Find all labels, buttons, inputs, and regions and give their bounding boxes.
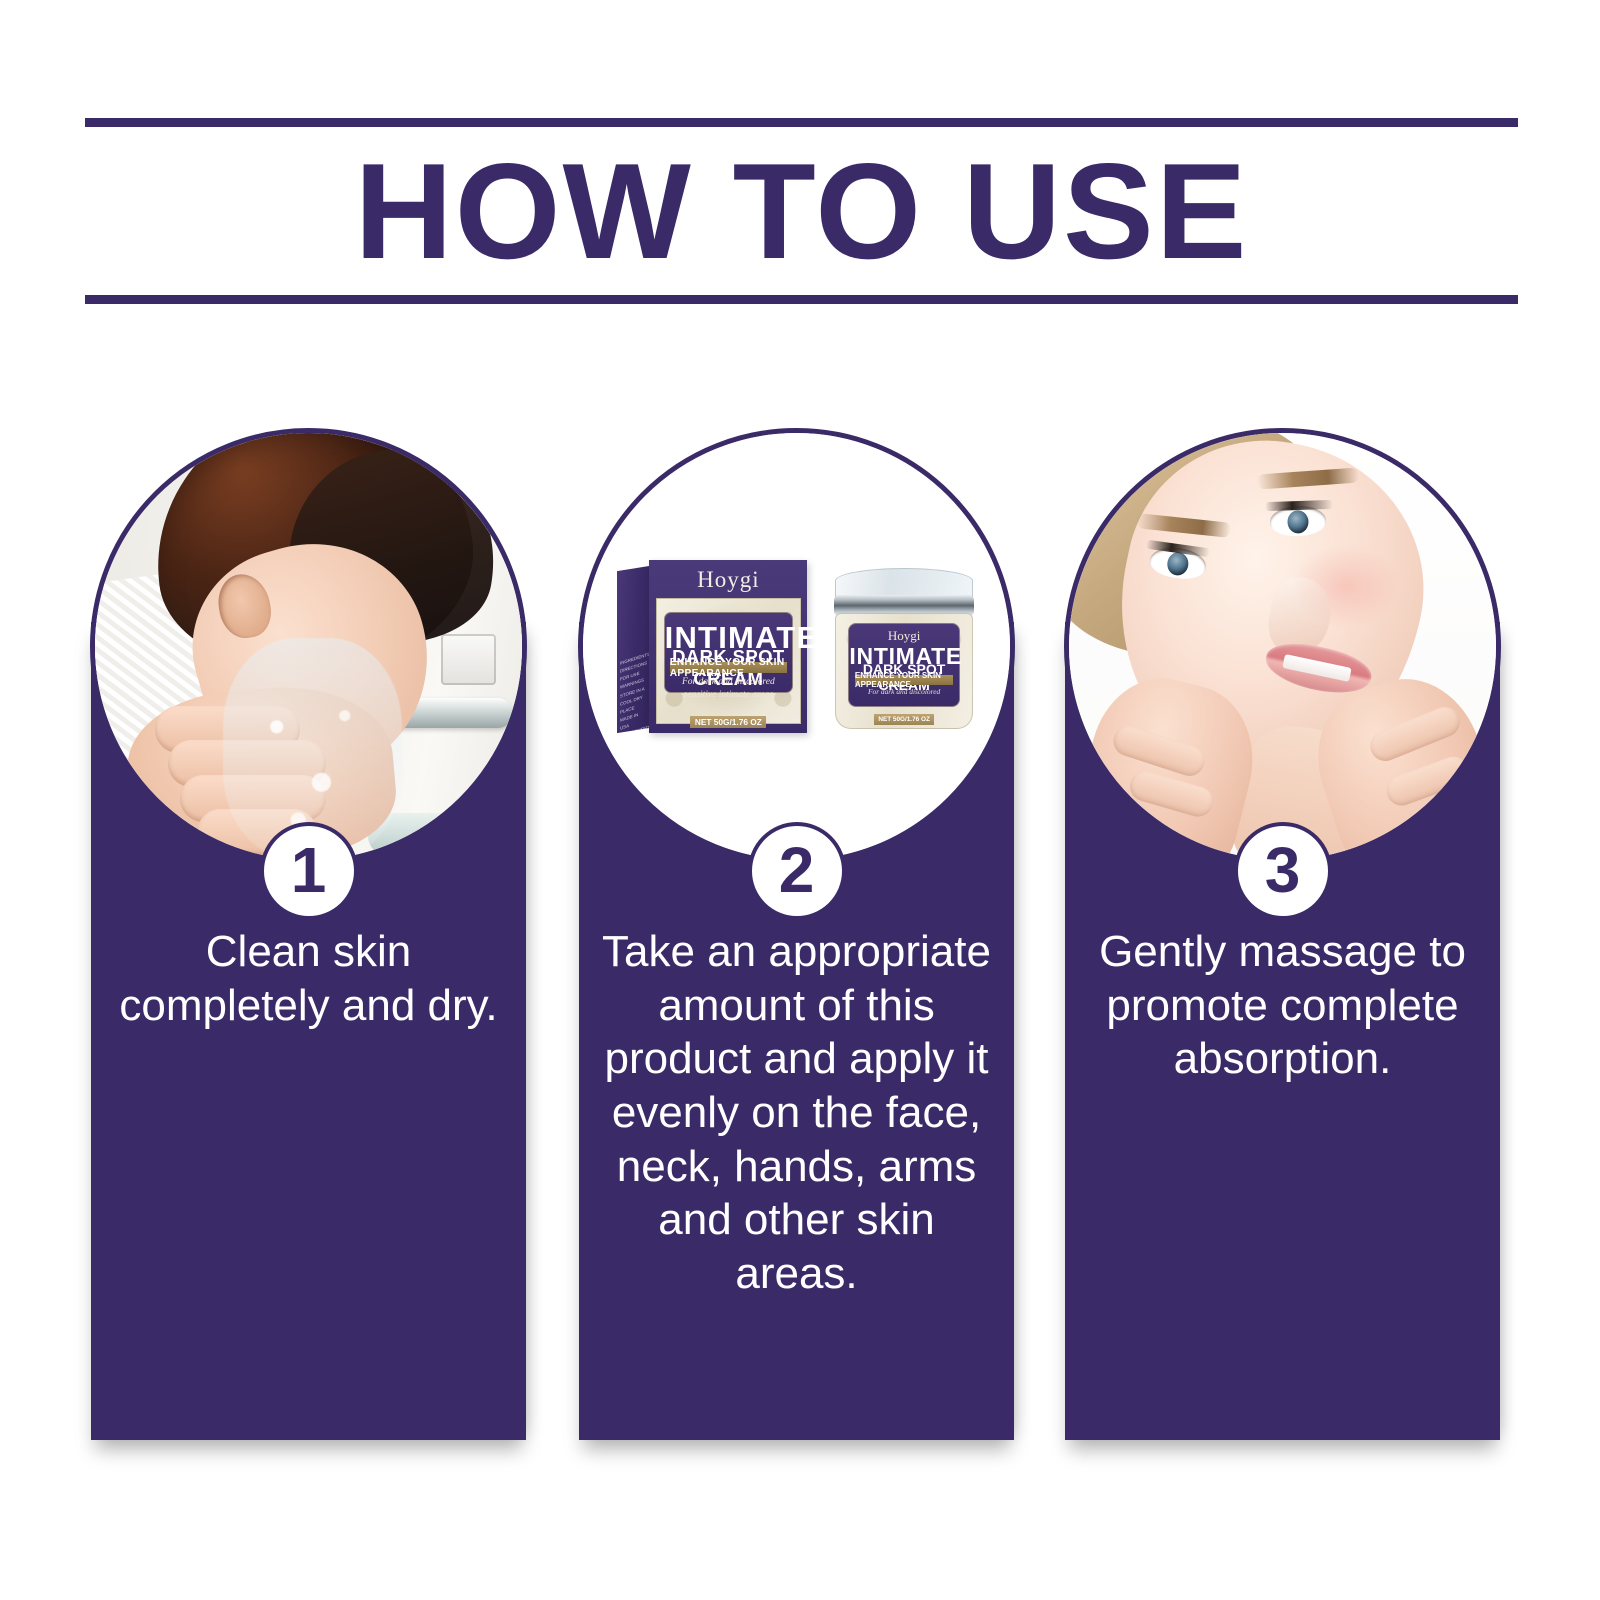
- product-brand-jar: Hoygi: [849, 628, 958, 644]
- product-jar: Hoygi INTIMATE DARK SPOT CREAM ENHANCE Y…: [832, 568, 975, 729]
- step-card-1[interactable]: 1 Clean skin completely and dry.: [91, 428, 526, 1440]
- step-number-badge-3: 3: [1234, 822, 1332, 920]
- product-net-weight-jar: NET 50G/1.76 OZ: [878, 716, 930, 723]
- header-rule-top: [85, 118, 1518, 127]
- step-description-1: Clean skin completely and dry.: [105, 925, 512, 1032]
- carton-side-text: INGREDIENTS DIRECTIONS FOR USE WARNINGS …: [620, 651, 647, 774]
- header-rule-bottom: [85, 295, 1518, 304]
- product-script-jar: For dark and discolored: [849, 687, 958, 696]
- step-number-badge-1: 1: [260, 822, 358, 920]
- step-number: 3: [1265, 838, 1301, 902]
- steps-container: 1 Clean skin completely and dry. INGREDI…: [91, 428, 1501, 1488]
- woman-washing-face-image: [95, 433, 522, 860]
- step-image-circle-1: [90, 428, 527, 865]
- step-description-2: Take an appropriate amount of this produ…: [593, 925, 1000, 1301]
- step-number-badge-2: 2: [748, 822, 846, 920]
- woman-massaging-face-image: [1069, 433, 1496, 860]
- step-card-2[interactable]: INGREDIENTS DIRECTIONS FOR USE WARNINGS …: [579, 428, 1014, 1440]
- product-net-weight-carton: NET 50G/1.76 OZ: [695, 717, 762, 727]
- step-image-circle-2: INGREDIENTS DIRECTIONS FOR USE WARNINGS …: [578, 428, 1015, 865]
- step-description-3: Gently massage to promote complete absor…: [1079, 925, 1486, 1086]
- page-title: HOW TO USE: [85, 143, 1518, 279]
- product-package-image: INGREDIENTS DIRECTIONS FOR USE WARNINGS …: [583, 433, 1010, 860]
- step-image-circle-3: [1064, 428, 1501, 865]
- product-tagline-jar: ENHANCE YOUR SKIN APPEARANCE: [855, 671, 953, 689]
- step-number: 2: [779, 838, 815, 902]
- page-header: HOW TO USE: [85, 118, 1518, 304]
- product-brand-carton: Hoygi: [649, 567, 807, 593]
- step-number: 1: [291, 838, 327, 902]
- step-card-3[interactable]: 3 Gently massage to promote complete abs…: [1065, 428, 1500, 1440]
- product-script-line2-carton: sensitive intimate areas: [684, 690, 773, 700]
- product-carton: INGREDIENTS DIRECTIONS FOR USE WARNINGS …: [617, 560, 807, 732]
- product-script-line1-carton: For dark and discolored: [682, 677, 775, 687]
